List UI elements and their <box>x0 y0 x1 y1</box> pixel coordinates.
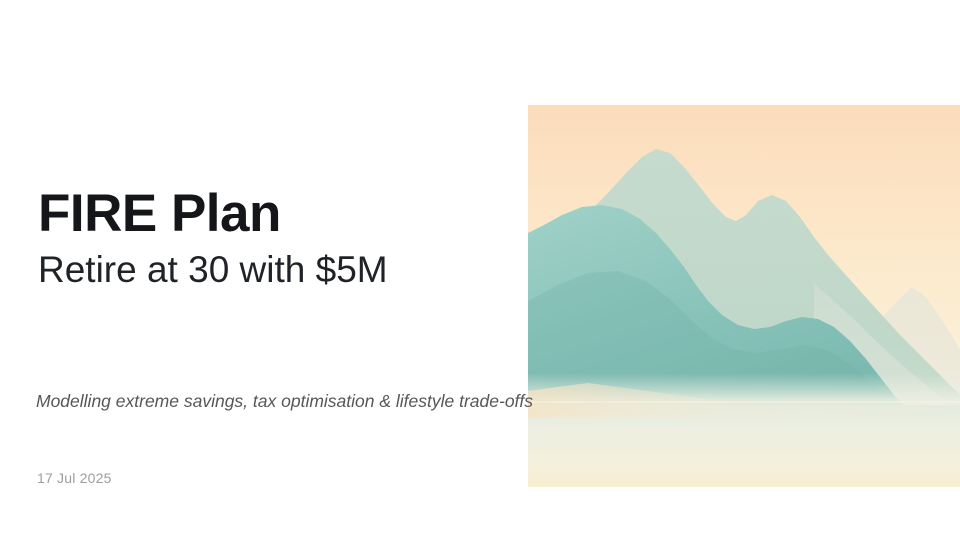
page-tagline: Modelling extreme savings, tax optimisat… <box>36 391 533 412</box>
slide-date: 17 Jul 2025 <box>37 470 112 486</box>
mountain-landscape-illustration <box>528 105 960 487</box>
water-layer <box>528 405 960 487</box>
horizon-line <box>528 401 960 403</box>
hero-image <box>528 105 960 487</box>
presentation-slide: FIRE Plan Retire at 30 with $5M Modellin… <box>0 0 960 537</box>
page-subtitle: Retire at 30 with $5M <box>38 250 388 291</box>
page-title: FIRE Plan <box>38 186 281 242</box>
